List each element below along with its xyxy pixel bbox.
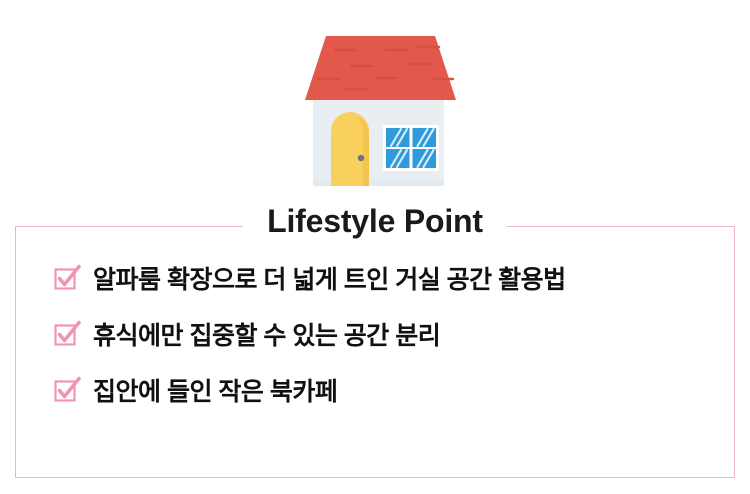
checkbox-checked-icon (55, 267, 79, 291)
list-item-label: 휴식에만 집중할 수 있는 공간 분리 (93, 321, 440, 351)
checkbox-checked-icon (55, 379, 79, 403)
checkbox-checked-icon (55, 323, 79, 347)
list-item: 알파룸 확장으로 더 넓게 트인 거실 공간 활용법 (15, 252, 735, 308)
list-item: 휴식에만 집중할 수 있는 공간 분리 (15, 308, 735, 364)
lifestyle-point-list: 알파룸 확장으로 더 넓게 트인 거실 공간 활용법 휴식에만 집중할 수 있는… (15, 252, 735, 420)
doorknob (358, 155, 364, 161)
list-item: 집안에 들인 작은 북카페 (15, 364, 735, 420)
roof (305, 36, 456, 100)
list-item-label: 알파룸 확장으로 더 넓게 트인 거실 공간 활용법 (93, 265, 566, 295)
house-graphic (283, 34, 467, 190)
window (383, 125, 439, 171)
house-illustration (0, 0, 750, 200)
list-item-label: 집안에 들인 작은 북카페 (93, 377, 337, 407)
